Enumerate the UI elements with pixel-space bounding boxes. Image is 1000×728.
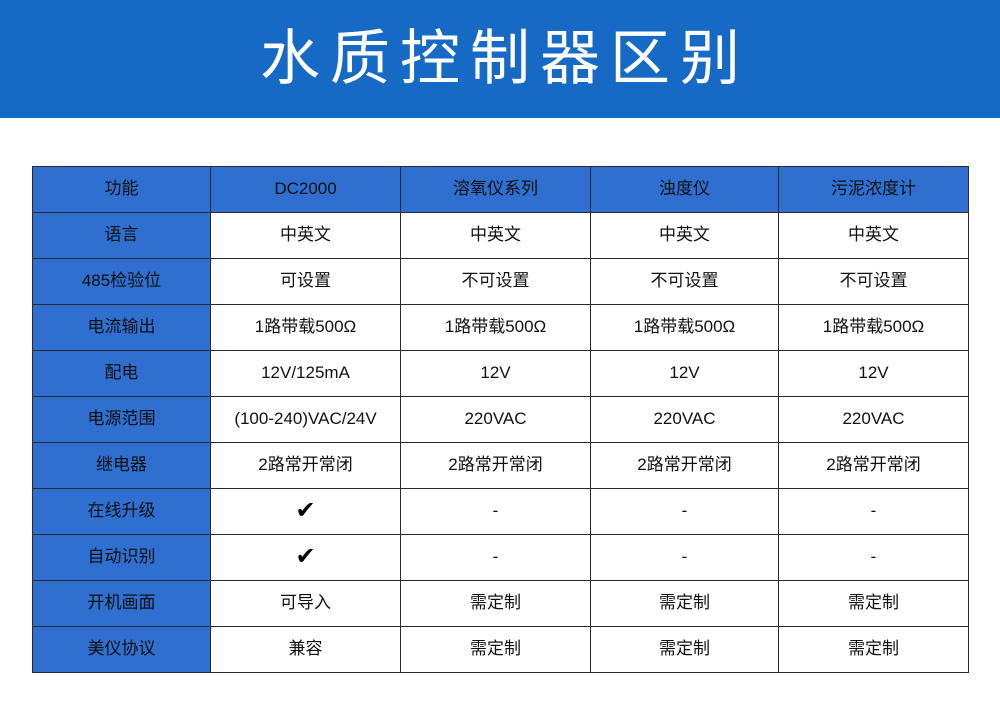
cell-value: (100-240)VAC/24V (211, 397, 401, 443)
cell-value: 可设置 (211, 259, 401, 305)
check-icon: ✔ (295, 545, 315, 569)
row-label: 电源范围 (33, 397, 211, 443)
cell-value: - (591, 489, 779, 535)
cell-value: 2路常开常闭 (591, 443, 779, 489)
row-label: 美仪协议 (33, 627, 211, 673)
cell-value: 需定制 (779, 627, 969, 673)
cell-value: 1路带载500Ω (591, 305, 779, 351)
cell-value: 12V (779, 351, 969, 397)
cell-value: 兼容 (211, 627, 401, 673)
cell-value: 220VAC (401, 397, 591, 443)
cell-value: 中英文 (779, 213, 969, 259)
row-label: 485检验位 (33, 259, 211, 305)
comparison-table: 功能 DC2000 溶氧仪系列 浊度仪 污泥浓度计 语言 中英文 中英文 中英文… (32, 166, 969, 673)
cell-value: - (401, 489, 591, 535)
table-row: 继电器 2路常开常闭 2路常开常闭 2路常开常闭 2路常开常闭 (33, 443, 969, 489)
table-row: 自动识别 ✔ - - - (33, 535, 969, 581)
table-row: 在线升级 ✔ - - - (33, 489, 969, 535)
cell-value: 中英文 (591, 213, 779, 259)
cell-value: 2路常开常闭 (211, 443, 401, 489)
table-row: 语言 中英文 中英文 中英文 中英文 (33, 213, 969, 259)
cell-value: - (779, 535, 969, 581)
column-header-dc2000: DC2000 (211, 167, 401, 213)
cell-value: 不可设置 (591, 259, 779, 305)
cell-value: ✔ (211, 535, 401, 581)
page-title: 水质控制器区别 (250, 29, 750, 89)
cell-value: 1路带载500Ω (779, 305, 969, 351)
cell-value: 需定制 (401, 581, 591, 627)
column-header-do-series: 溶氧仪系列 (401, 167, 591, 213)
row-label: 继电器 (33, 443, 211, 489)
comparison-table-container: 功能 DC2000 溶氧仪系列 浊度仪 污泥浓度计 语言 中英文 中英文 中英文… (0, 118, 1000, 673)
cell-value: 12V/125mA (211, 351, 401, 397)
table-row: 配电 12V/125mA 12V 12V 12V (33, 351, 969, 397)
cell-value: 220VAC (779, 397, 969, 443)
row-label: 语言 (33, 213, 211, 259)
cell-value: - (591, 535, 779, 581)
cell-value: 需定制 (401, 627, 591, 673)
table-header-row: 功能 DC2000 溶氧仪系列 浊度仪 污泥浓度计 (33, 167, 969, 213)
column-header-feature: 功能 (33, 167, 211, 213)
table-row: 电流输出 1路带载500Ω 1路带载500Ω 1路带载500Ω 1路带载500Ω (33, 305, 969, 351)
cell-value: 12V (401, 351, 591, 397)
cell-value: - (401, 535, 591, 581)
cell-value: 1路带载500Ω (401, 305, 591, 351)
row-label: 自动识别 (33, 535, 211, 581)
cell-value: 不可设置 (401, 259, 591, 305)
cell-value: ✔ (211, 489, 401, 535)
cell-value: - (779, 489, 969, 535)
cell-value: 220VAC (591, 397, 779, 443)
cell-value: 2路常开常闭 (779, 443, 969, 489)
cell-value: 中英文 (211, 213, 401, 259)
cell-value: 不可设置 (779, 259, 969, 305)
cell-value: 中英文 (401, 213, 591, 259)
cell-value: 需定制 (591, 627, 779, 673)
check-icon: ✔ (295, 499, 315, 523)
cell-value: 1路带载500Ω (211, 305, 401, 351)
cell-value: 需定制 (779, 581, 969, 627)
row-label: 电流输出 (33, 305, 211, 351)
row-label: 开机画面 (33, 581, 211, 627)
table-row: 电源范围 (100-240)VAC/24V 220VAC 220VAC 220V… (33, 397, 969, 443)
column-header-sludge: 污泥浓度计 (779, 167, 969, 213)
page-banner: 水质控制器区别 (0, 0, 1000, 118)
table-row: 485检验位 可设置 不可设置 不可设置 不可设置 (33, 259, 969, 305)
table-row: 开机画面 可导入 需定制 需定制 需定制 (33, 581, 969, 627)
cell-value: 2路常开常闭 (401, 443, 591, 489)
cell-value: 可导入 (211, 581, 401, 627)
cell-value: 12V (591, 351, 779, 397)
row-label: 在线升级 (33, 489, 211, 535)
cell-value: 需定制 (591, 581, 779, 627)
table-row: 美仪协议 兼容 需定制 需定制 需定制 (33, 627, 969, 673)
column-header-turbidity: 浊度仪 (591, 167, 779, 213)
row-label: 配电 (33, 351, 211, 397)
